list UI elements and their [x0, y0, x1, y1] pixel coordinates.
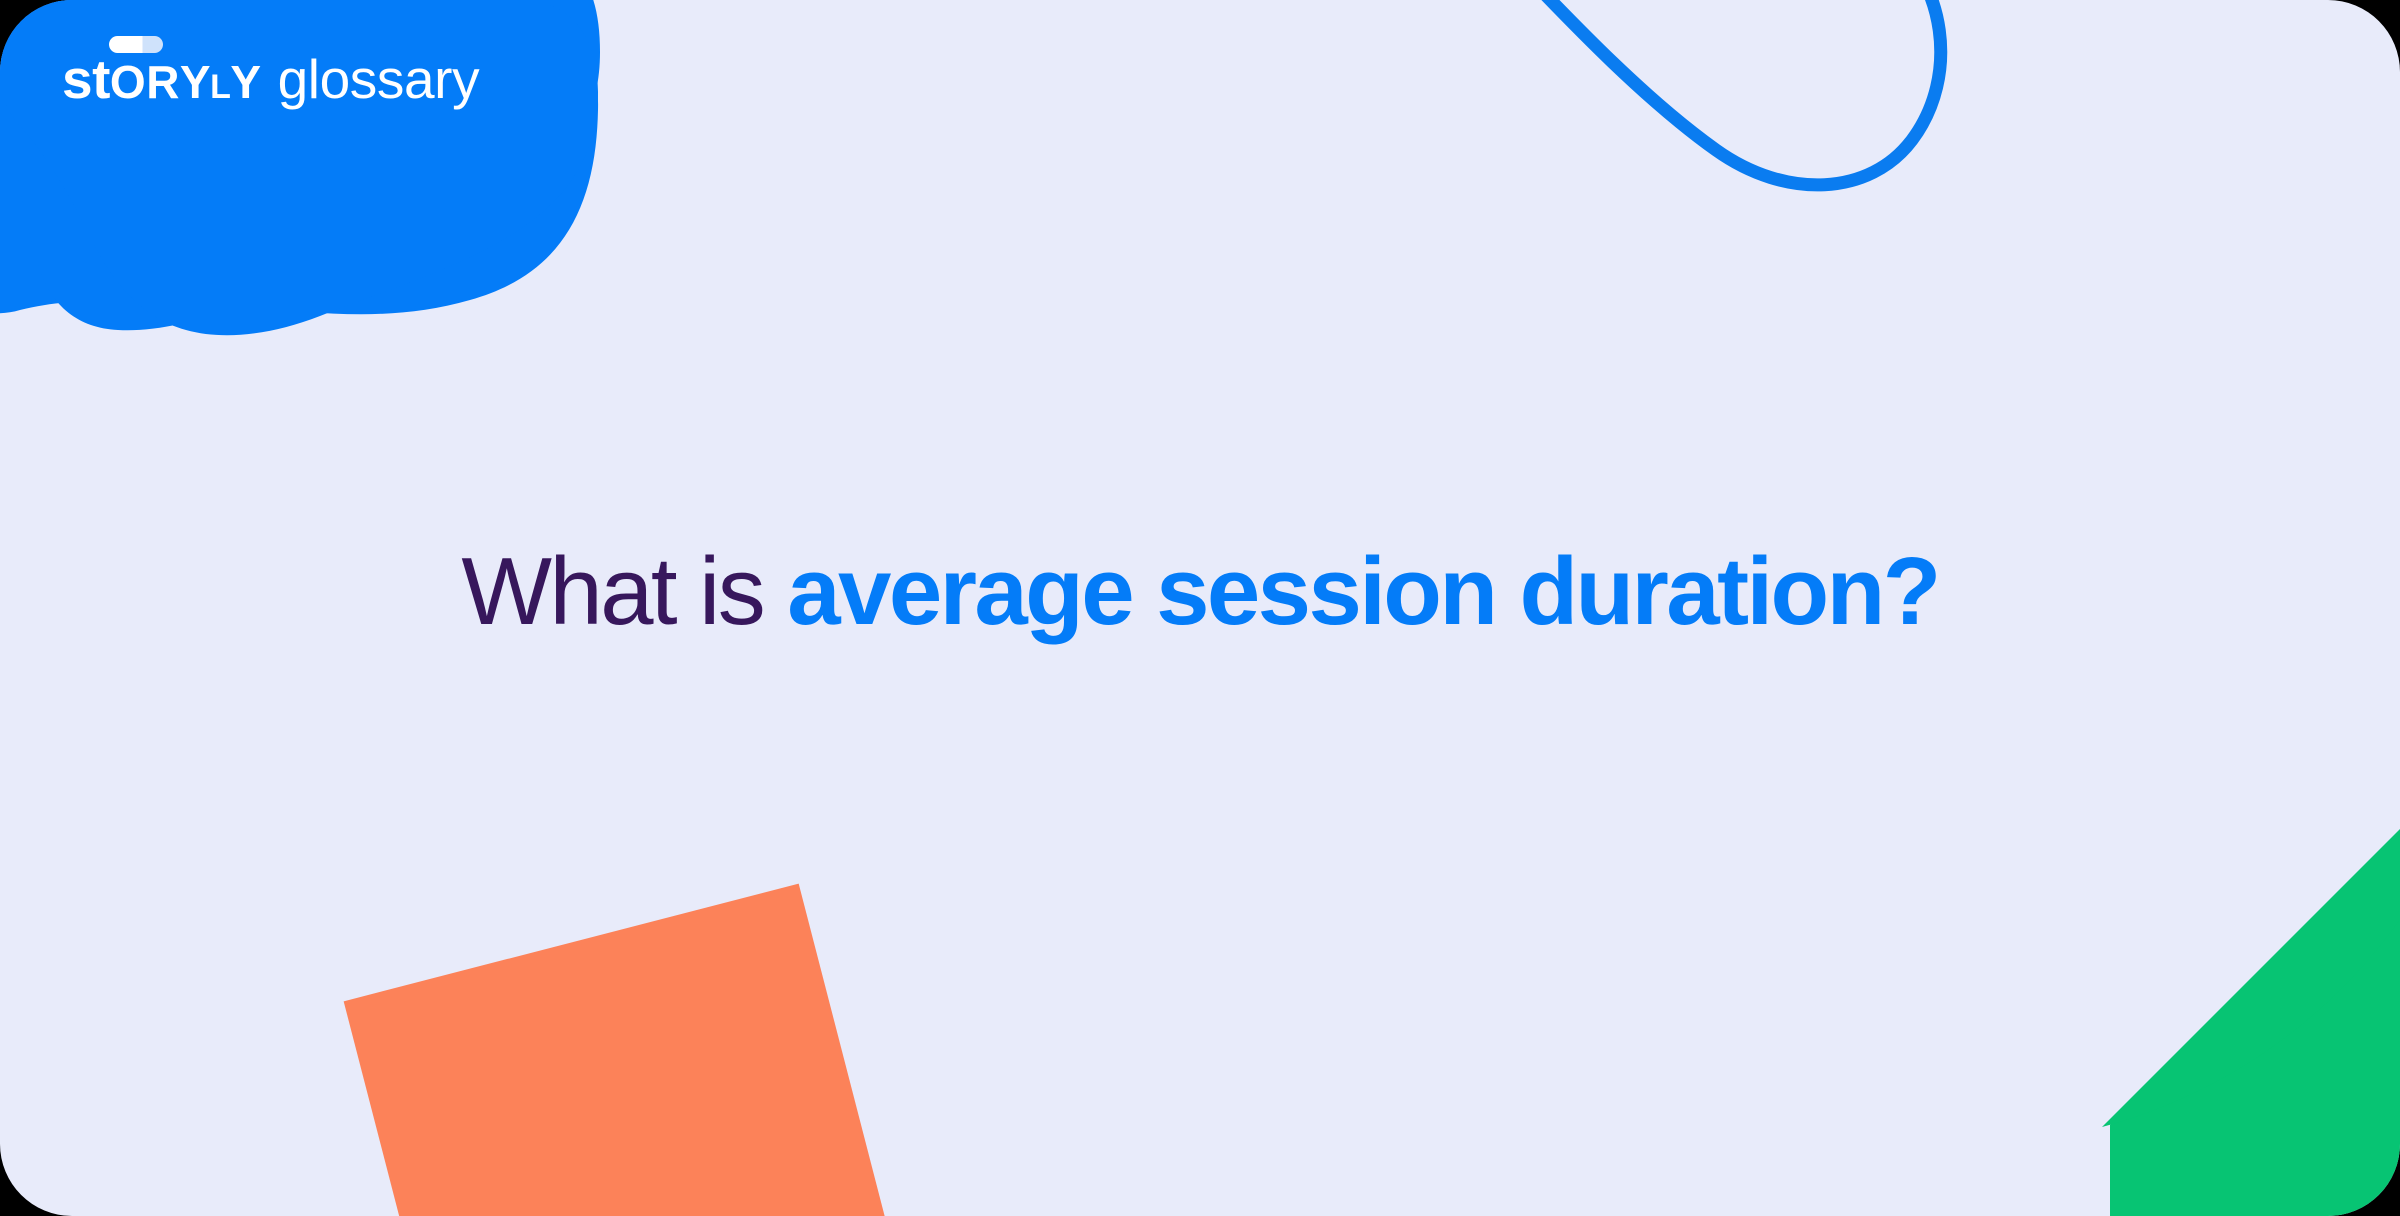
logo-letter-y2: y — [230, 56, 260, 108]
logo[interactable]: storyly glossary — [62, 52, 479, 118]
logo-letters-or: or — [110, 56, 180, 108]
blue-loop-line-shape — [1512, 0, 1941, 185]
logo-letter-s: s — [62, 48, 92, 110]
title-plain-part: What is — [461, 538, 787, 645]
logo-letter-l: l — [210, 68, 230, 106]
logo-word-glossary: glossary — [278, 52, 480, 107]
page-title: What is average session duration? — [0, 538, 2400, 646]
coral-square-shape — [344, 884, 917, 1216]
logo-letter-t: t — [92, 48, 110, 110]
green-wedge-arc — [2102, 749, 2400, 1127]
pill-bar-icon — [109, 36, 163, 53]
logo-mark: storyly — [62, 52, 261, 107]
logo-letter-y: y — [180, 56, 210, 108]
heading-container: What is average session duration? — [0, 538, 2400, 646]
title-accent-part: average session duration? — [787, 538, 1938, 645]
glossary-card: storyly glossary What is average session… — [0, 0, 2400, 1216]
green-wedge-shape — [2110, 715, 2400, 1216]
